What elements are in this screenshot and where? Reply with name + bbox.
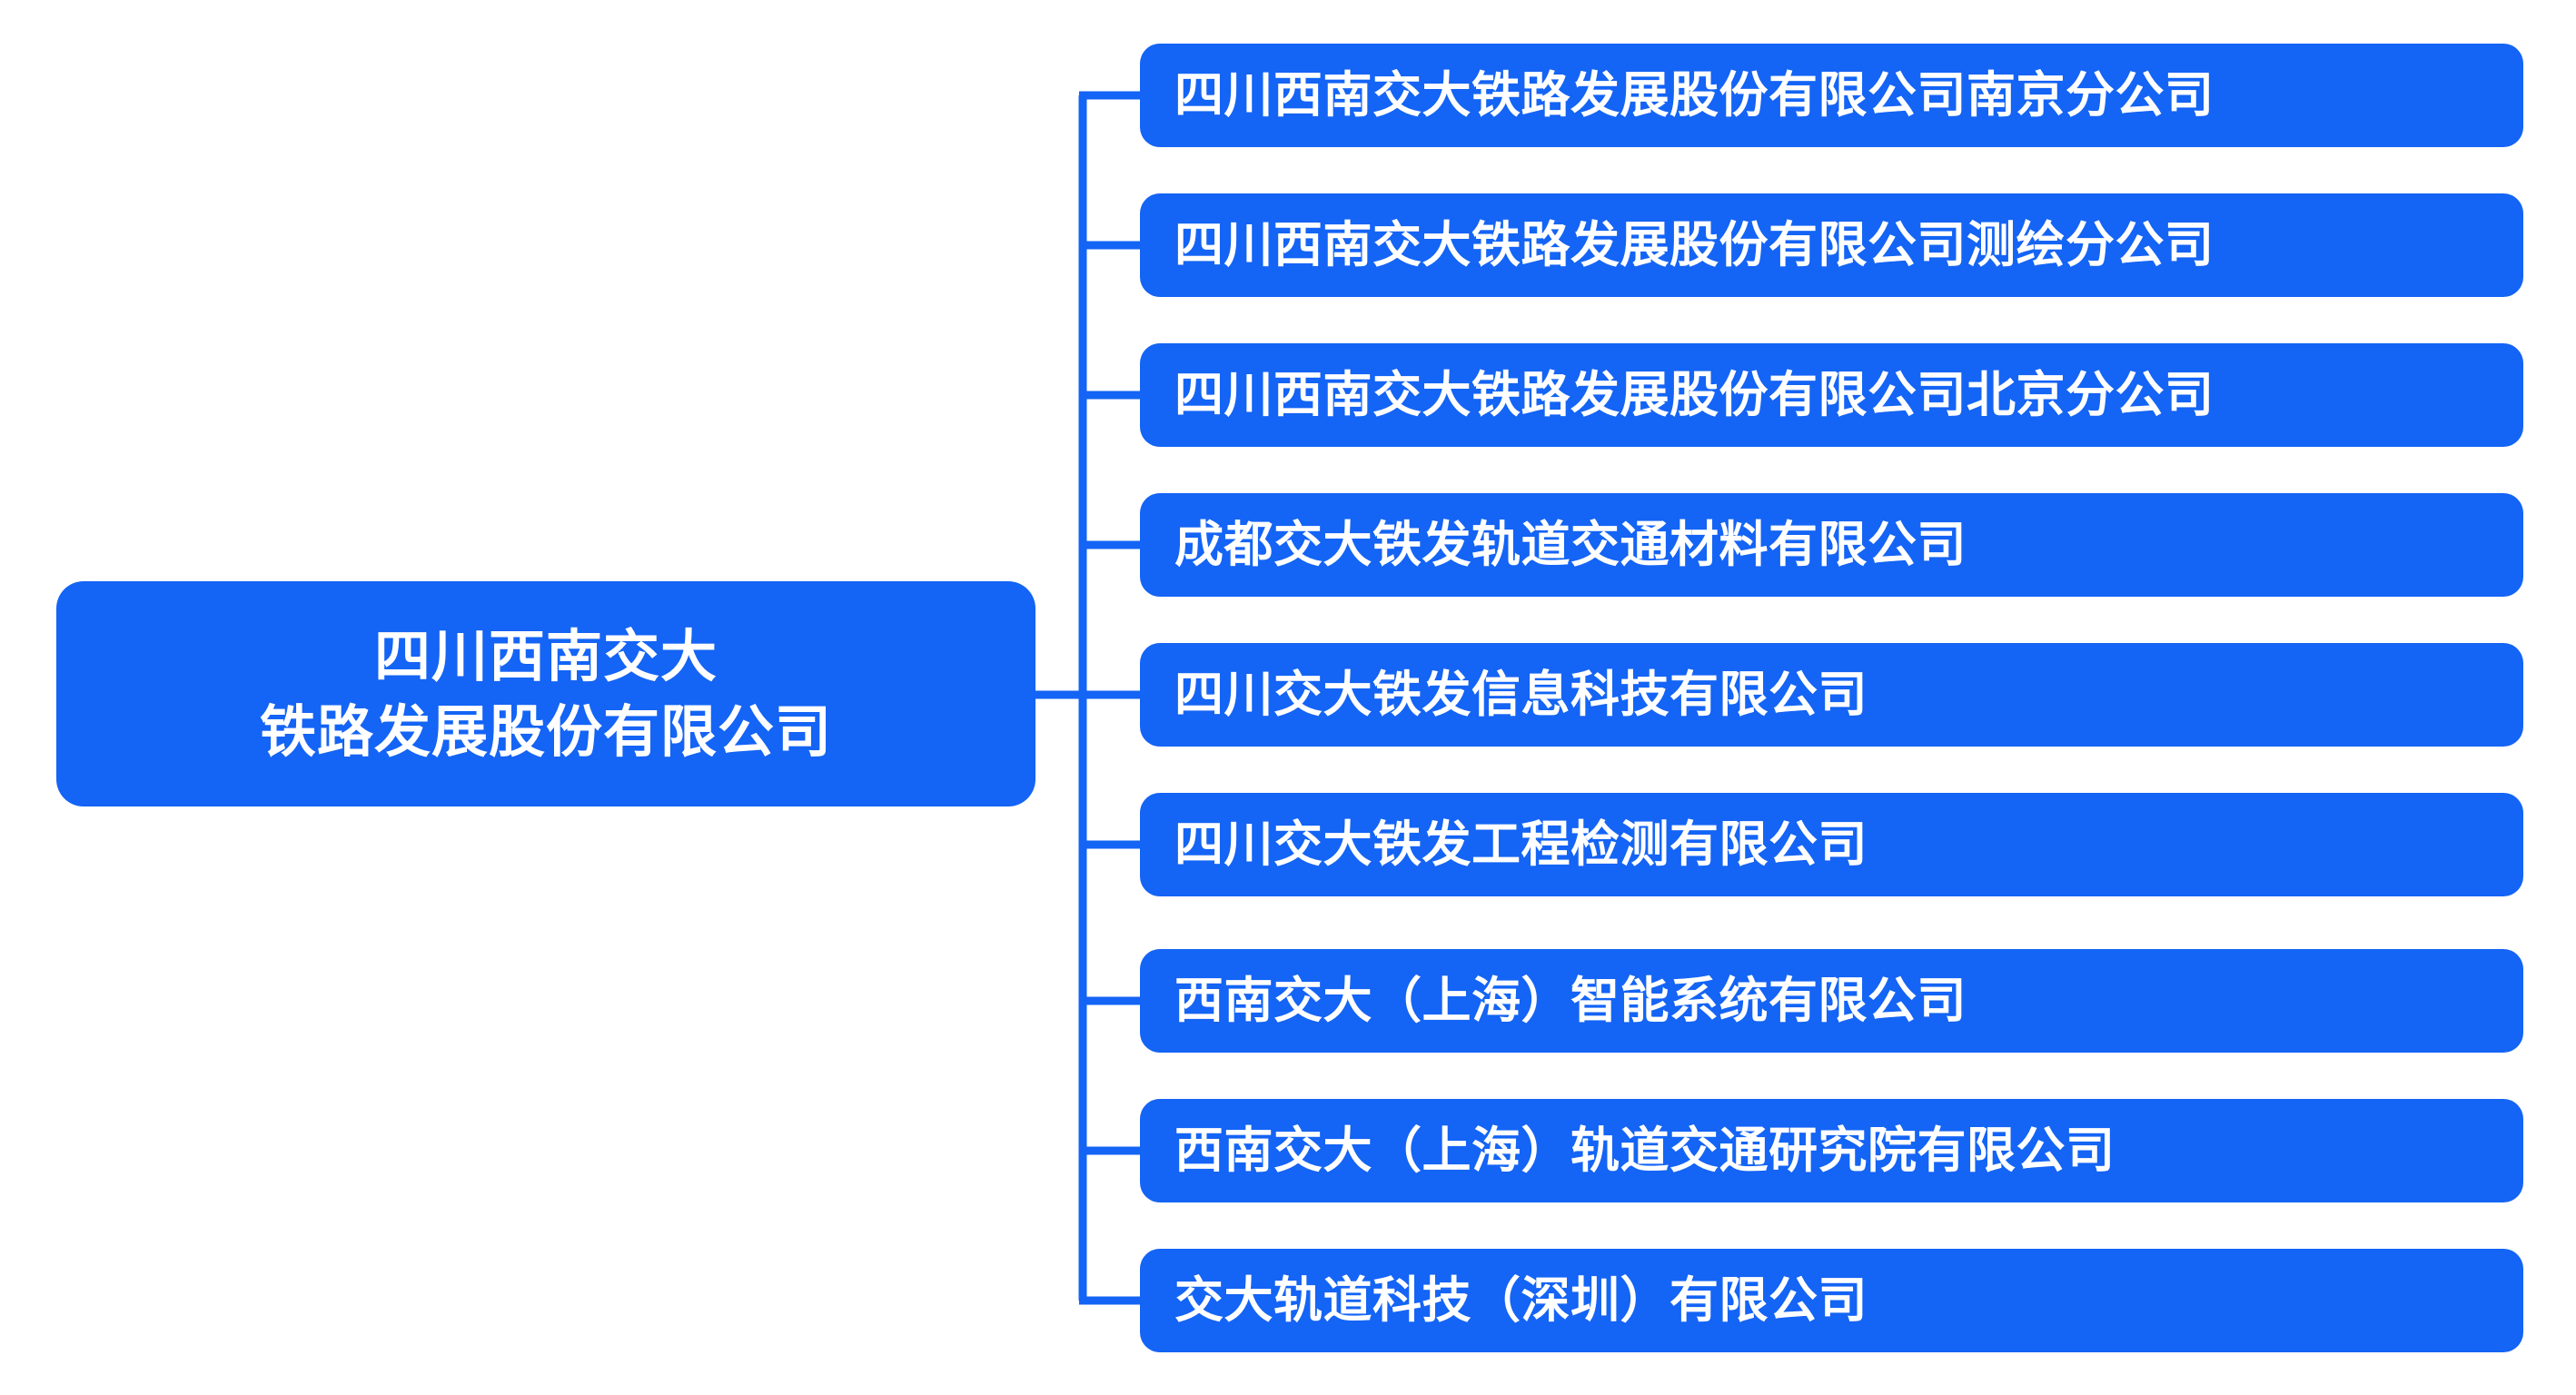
root-node-label-line-1: 四川西南交大 — [374, 618, 718, 694]
child-node-label: 交大轨道科技（深圳）有限公司 — [1174, 1276, 1868, 1325]
child-node-9[interactable]: 交大轨道科技（深圳）有限公司 — [1140, 1249, 2523, 1352]
root-node-label-line-2: 铁路发展股份有限公司 — [260, 694, 832, 769]
child-node-3[interactable]: 四川西南交大铁路发展股份有限公司北京分公司 — [1140, 343, 2523, 447]
child-node-label: 四川西南交大铁路发展股份有限公司南京分公司 — [1174, 71, 2214, 120]
child-node-label: 西南交大（上海）轨道交通研究院有限公司 — [1174, 1126, 2115, 1175]
child-node-label: 成都交大铁发轨道交通材料有限公司 — [1174, 520, 1967, 569]
child-node-8[interactable]: 西南交大（上海）轨道交通研究院有限公司 — [1140, 1099, 2523, 1202]
child-node-label: 四川交大铁发工程检测有限公司 — [1174, 820, 1868, 869]
child-node-1[interactable]: 四川西南交大铁路发展股份有限公司南京分公司 — [1140, 44, 2523, 147]
org-chart-canvas: 四川西南交大 铁路发展股份有限公司 四川西南交大铁路发展股份有限公司南京分公司 … — [0, 0, 2576, 1395]
child-node-5[interactable]: 四川交大铁发信息科技有限公司 — [1140, 643, 2523, 747]
child-node-label: 四川西南交大铁路发展股份有限公司北京分公司 — [1174, 371, 2214, 420]
child-node-7[interactable]: 西南交大（上海）智能系统有限公司 — [1140, 949, 2523, 1053]
root-node[interactable]: 四川西南交大 铁路发展股份有限公司 — [56, 581, 1035, 806]
child-node-4[interactable]: 成都交大铁发轨道交通材料有限公司 — [1140, 493, 2523, 597]
child-node-2[interactable]: 四川西南交大铁路发展股份有限公司测绘分公司 — [1140, 193, 2523, 297]
child-node-label: 西南交大（上海）智能系统有限公司 — [1174, 976, 1967, 1025]
child-node-label: 四川西南交大铁路发展股份有限公司测绘分公司 — [1174, 221, 2214, 270]
child-node-6[interactable]: 四川交大铁发工程检测有限公司 — [1140, 793, 2523, 896]
child-node-label: 四川交大铁发信息科技有限公司 — [1174, 670, 1868, 719]
